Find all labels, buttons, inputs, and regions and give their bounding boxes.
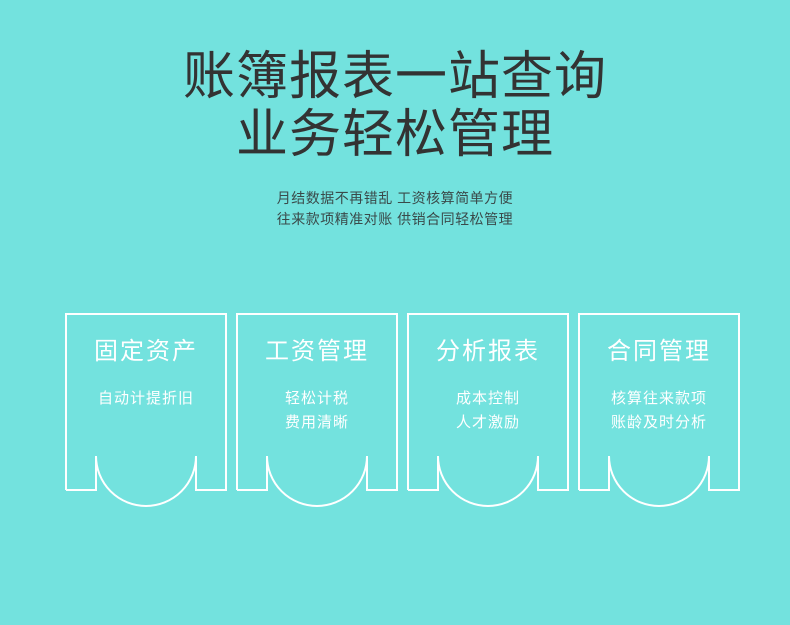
- subtitle-line-2: 往来款项精准对账 供销合同轻松管理: [0, 209, 790, 230]
- promo-banner: 账簿报表一站查询 业务轻松管理 月结数据不再错乱 工资核算简单方便 往来款项精准…: [0, 0, 790, 625]
- feature-card-contract-management[interactable]: 合同管理 核算往来款项 账龄及时分析: [578, 313, 740, 491]
- feature-card-fixed-assets[interactable]: 固定资产 自动计提折旧: [65, 313, 227, 491]
- page-title: 账簿报表一站查询 业务轻松管理: [0, 48, 790, 164]
- feature-card-analysis-report[interactable]: 分析报表 成本控制 人才激励: [407, 313, 569, 491]
- card-outline-shape: [578, 313, 740, 491]
- subtitle-line-1: 月结数据不再错乱 工资核算简单方便: [0, 188, 790, 209]
- card-outline-shape: [236, 313, 398, 491]
- feature-card-row: 固定资产 自动计提折旧 工资管理 轻松计税 费用清晰: [65, 313, 743, 498]
- title-line-2: 业务轻松管理: [0, 106, 790, 164]
- title-line-1: 账簿报表一站查询: [0, 48, 790, 106]
- feature-card-payroll[interactable]: 工资管理 轻松计税 费用清晰: [236, 313, 398, 491]
- subtitle-block: 月结数据不再错乱 工资核算简单方便 往来款项精准对账 供销合同轻松管理: [0, 188, 790, 230]
- card-outline-shape: [407, 313, 569, 491]
- card-outline-shape: [65, 313, 227, 491]
